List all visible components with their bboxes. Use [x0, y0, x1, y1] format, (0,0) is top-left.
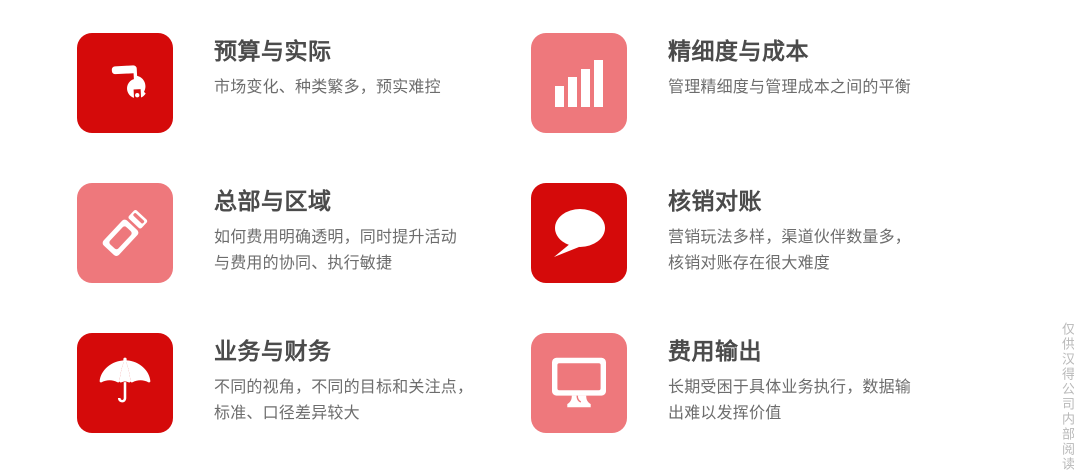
card-expense-output: 费用输出 长期受困于具体业务执行，数据输 出难以发挥价值 [531, 333, 911, 433]
card-text-verification-reconciliation: 核销对账 营销玩法多样，渠道伙伴数量多， 核销对账存在很大难度 [668, 183, 911, 277]
card-granularity-vs-cost: 精细度与成本 管理精细度与管理成本之间的平衡 [531, 33, 911, 133]
card-description: 营销玩法多样，渠道伙伴数量多， 核销对账存在很大难度 [668, 225, 911, 277]
card-text-business-vs-finance: 业务与财务 不同的视角，不同的目标和关注点， 标准、口径差异较大 [214, 333, 473, 427]
card-title: 精细度与成本 [668, 37, 911, 66]
card-description: 如何费用明确透明，同时提升活动 与费用的协同、执行敏捷 [214, 225, 457, 277]
card-description-line: 与费用的协同、执行敏捷 [214, 251, 457, 277]
card-description-line: 营销玩法多样，渠道伙伴数量多， [668, 225, 911, 251]
card-description-line: 标准、口径差异较大 [214, 401, 473, 427]
card-description-line: 市场变化、种类繁多，预实难控 [214, 75, 441, 101]
umbrella-icon [96, 354, 154, 412]
card-title: 核销对账 [668, 187, 911, 216]
bar-chart-icon [553, 58, 605, 108]
icon-tile-verification-reconciliation [531, 183, 627, 283]
card-description-line: 核销对账存在很大难度 [668, 251, 911, 277]
card-title: 费用输出 [668, 337, 911, 366]
speech-bubble-icon [549, 205, 609, 261]
card-budget-vs-actual: 预算与实际 市场变化、种类繁多，预实难控 [77, 33, 441, 133]
card-text-granularity-vs-cost: 精细度与成本 管理精细度与管理成本之间的平衡 [668, 33, 911, 101]
card-description: 不同的视角，不同的目标和关注点， 标准、口径差异较大 [214, 375, 473, 427]
card-description-line: 长期受困于具体业务执行，数据输 [668, 375, 911, 401]
card-description-line: 出难以发挥价值 [668, 401, 911, 427]
icon-tile-business-vs-finance [77, 333, 173, 433]
card-text-expense-output: 费用输出 长期受困于具体业务执行，数据输 出难以发挥价值 [668, 333, 911, 427]
wrench-icon [98, 56, 152, 110]
icon-tile-budget-vs-actual [77, 33, 173, 133]
card-headquarters-vs-region: 总部与区域 如何费用明确透明，同时提升活动 与费用的协同、执行敏捷 [77, 183, 457, 283]
card-description: 管理精细度与管理成本之间的平衡 [668, 75, 911, 101]
icon-tile-granularity-vs-cost [531, 33, 627, 133]
card-verification-reconciliation: 核销对账 营销玩法多样，渠道伙伴数量多， 核销对账存在很大难度 [531, 183, 911, 283]
pen-icon [97, 205, 153, 261]
card-description-line: 如何费用明确透明，同时提升活动 [214, 225, 457, 251]
card-description-line: 不同的视角，不同的目标和关注点， [214, 375, 473, 401]
card-text-budget-vs-actual: 预算与实际 市场变化、种类繁多，预实难控 [214, 33, 441, 101]
card-description: 市场变化、种类繁多，预实难控 [214, 75, 441, 101]
icon-tile-expense-output [531, 333, 627, 433]
icon-tile-headquarters-vs-region [77, 183, 173, 283]
monitor-icon [550, 356, 608, 410]
card-text-headquarters-vs-region: 总部与区域 如何费用明确透明，同时提升活动 与费用的协同、执行敏捷 [214, 183, 457, 277]
card-title: 业务与财务 [214, 337, 473, 366]
confidential-watermark: 仅供汉得公司内部阅读与使 [1048, 322, 1074, 470]
feature-grid: 预算与实际 市场变化、种类繁多，预实难控 精细度与成本 管理精细度与管理成本之间… [0, 0, 1080, 470]
card-description: 长期受困于具体业务执行，数据输 出难以发挥价值 [668, 375, 911, 427]
card-title: 总部与区域 [214, 187, 457, 216]
card-title: 预算与实际 [214, 37, 441, 66]
card-description-line: 管理精细度与管理成本之间的平衡 [668, 75, 911, 101]
card-business-vs-finance: 业务与财务 不同的视角，不同的目标和关注点， 标准、口径差异较大 [77, 333, 473, 433]
